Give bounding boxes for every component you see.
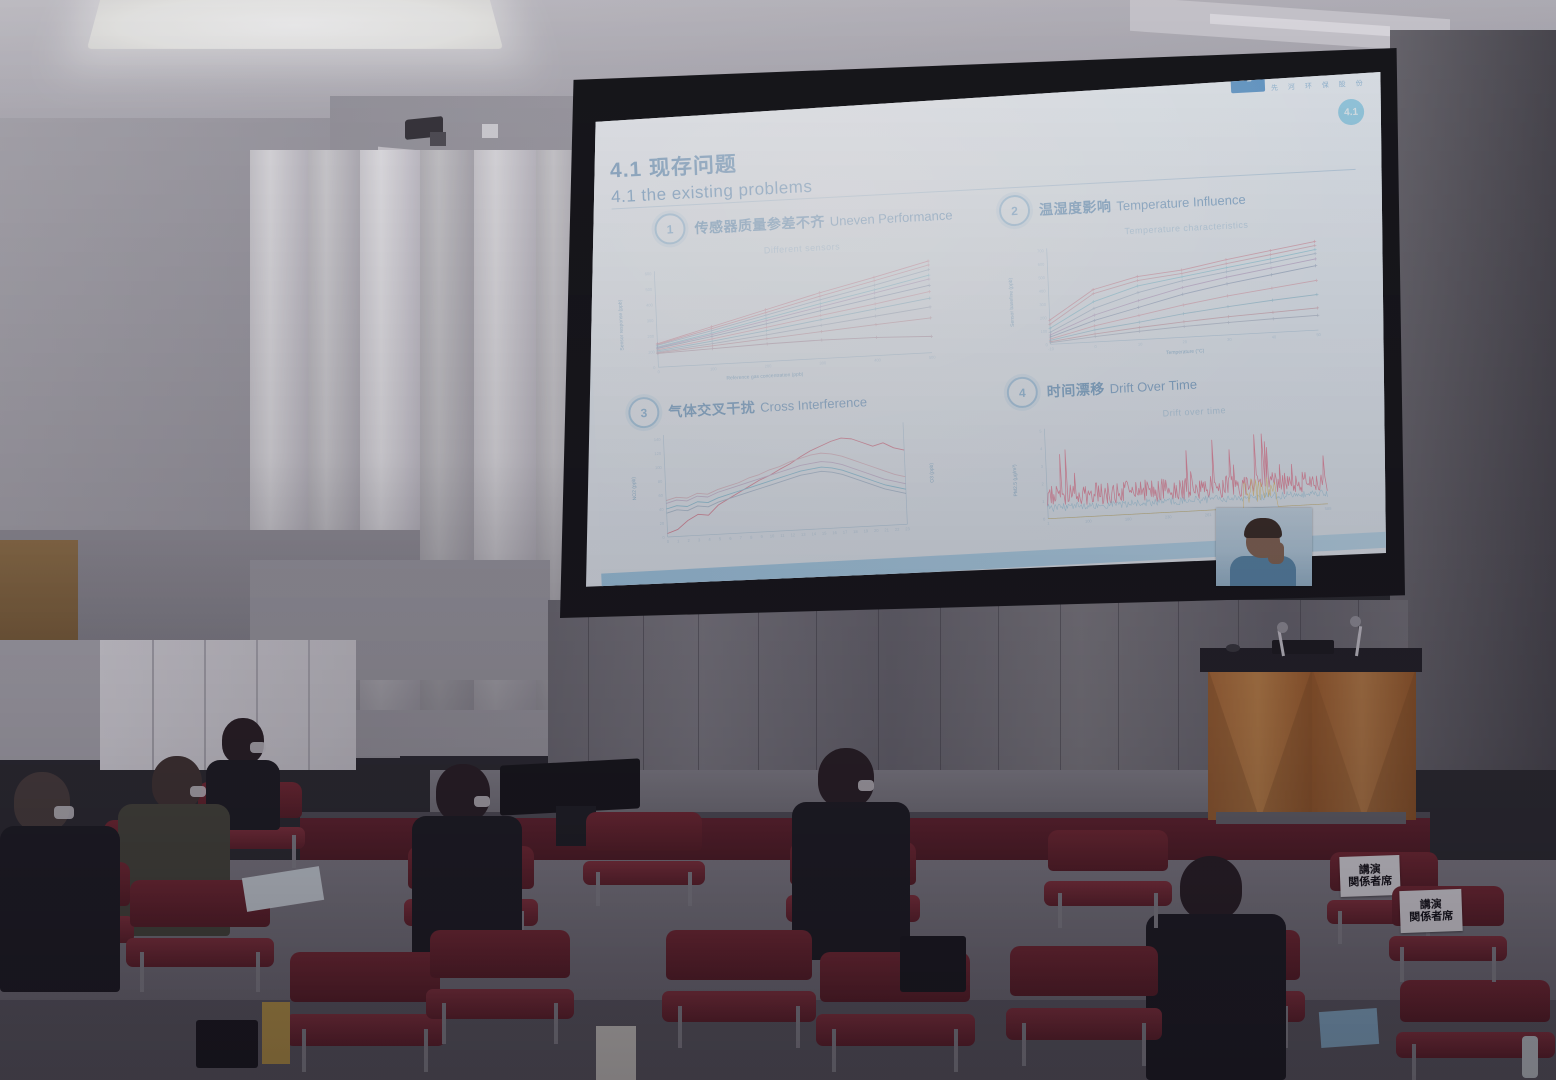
svg-text:1: 1 (677, 538, 680, 543)
svg-text:140: 140 (654, 437, 662, 442)
slide-number-badge: 4.1 (1338, 98, 1365, 125)
panel-drift-over-time: 4 时间漂移Drift Over Time Drift over time (1000, 352, 1386, 548)
svg-text:1: 1 (1047, 521, 1050, 526)
chair[interactable] (1010, 946, 1158, 1066)
svg-text:0: 0 (1094, 344, 1097, 349)
svg-text:7: 7 (740, 535, 743, 540)
svg-text:2: 2 (1041, 481, 1044, 486)
svg-text:0: 0 (1043, 516, 1046, 521)
water-bottle (1522, 1036, 1538, 1078)
panel-number-badge: 3 (628, 396, 660, 429)
svg-text:8: 8 (750, 534, 753, 539)
svg-text:O3 (ppb): O3 (ppb) (929, 462, 936, 482)
svg-text:40: 40 (1272, 334, 1277, 339)
panel-4-title-en: Drift Over Time (1109, 376, 1197, 396)
svg-text:0: 0 (653, 365, 656, 370)
chair[interactable] (430, 930, 570, 1044)
chart-drift-over-time: 1100180230261414541588012345 PM2.5 (µg/m… (1002, 409, 1386, 541)
reserved-sign-line1: 講演 (1359, 863, 1381, 876)
svg-text:600: 600 (1038, 262, 1046, 267)
svg-text:700: 700 (1037, 248, 1045, 253)
svg-text:200: 200 (647, 334, 655, 339)
svg-text:1: 1 (1042, 499, 1045, 504)
svg-text:400: 400 (1039, 288, 1047, 293)
pip-speaker-body (1230, 556, 1296, 586)
svg-text:13: 13 (801, 532, 806, 537)
reserved-sign-line2: 関係者席 (1348, 875, 1392, 889)
chair[interactable] (666, 930, 812, 1048)
svg-text:500: 500 (929, 354, 937, 359)
svg-text:0: 0 (667, 539, 670, 544)
svg-text:PM2.5 (µg/m³): PM2.5 (µg/m³) (1012, 464, 1019, 497)
svg-text:80: 80 (658, 479, 663, 484)
panel-number-badge: 1 (654, 213, 686, 246)
chart-uneven-performance: 01002003004005000100200300400500600 Refe… (610, 245, 1000, 390)
svg-text:120: 120 (654, 451, 662, 456)
podium-microphone-left[interactable] (1276, 620, 1290, 654)
svg-text:21: 21 (884, 527, 889, 532)
reserved-seat-sign: 講演 関係者席 (1399, 889, 1462, 933)
svg-text:20: 20 (1182, 339, 1187, 344)
svg-text:600: 600 (645, 271, 653, 276)
chair[interactable] (586, 812, 702, 906)
svg-text:14: 14 (811, 531, 816, 536)
ceiling-skylight (87, 0, 503, 49)
reserved-sign-line1: 講演 (1420, 898, 1442, 911)
svg-text:230: 230 (1165, 514, 1173, 519)
panel-uneven-performance: 1 传感器质量参差不齐Uneven Performance Different … (608, 196, 1000, 392)
handout-folder (1319, 1008, 1379, 1048)
svg-text:200: 200 (1040, 315, 1048, 320)
svg-text:3: 3 (1041, 464, 1044, 469)
svg-text:100: 100 (1085, 518, 1093, 523)
paper-bag (596, 1026, 636, 1080)
svg-text:200: 200 (765, 363, 773, 368)
svg-text:-10: -10 (1048, 346, 1055, 351)
svg-text:9: 9 (760, 534, 763, 539)
svg-text:5: 5 (1039, 429, 1042, 434)
svg-text:100: 100 (1040, 329, 1048, 334)
panel-temperature-influence: 2 温湿度影响Temperature Influence Temperature… (992, 176, 1384, 372)
svg-text:Reference gas concentration (p: Reference gas concentration (ppb) (726, 372, 803, 382)
paper-bag (262, 1002, 290, 1064)
svg-text:20: 20 (660, 521, 665, 526)
svg-text:10: 10 (1138, 341, 1143, 346)
svg-text:100: 100 (655, 465, 663, 470)
podium (1208, 668, 1416, 820)
svg-text:588: 588 (1325, 506, 1333, 511)
panel-number-badge: 4 (1006, 376, 1038, 409)
audience-person (0, 772, 120, 992)
svg-text:3: 3 (698, 537, 701, 542)
pip-speaker-hair (1244, 518, 1282, 538)
svg-text:300: 300 (819, 360, 827, 365)
svg-text:18: 18 (853, 529, 858, 534)
panel-1-title-en: Uneven Performance (830, 207, 953, 229)
svg-text:30: 30 (1227, 337, 1232, 342)
chair[interactable] (1048, 830, 1168, 928)
panel-1-title-cn: 传感器质量参差不齐 (694, 213, 825, 236)
svg-text:400: 400 (874, 357, 882, 362)
svg-text:11: 11 (780, 533, 785, 538)
svg-text:15: 15 (822, 530, 827, 535)
panel-2-title-cn: 温湿度影响 (1039, 197, 1112, 217)
podium-control-puck[interactable] (1226, 644, 1240, 652)
svg-text:4: 4 (708, 537, 711, 542)
svg-text:NO2 (ppb): NO2 (ppb) (631, 477, 638, 501)
svg-text:6: 6 (729, 536, 732, 541)
svg-text:100: 100 (710, 366, 718, 371)
chair[interactable] (290, 952, 440, 1072)
svg-text:19: 19 (864, 528, 869, 533)
svg-text:0: 0 (662, 535, 665, 540)
svg-text:Sensor baseline (ppb): Sensor baseline (ppb) (1008, 277, 1016, 327)
briefcase (900, 936, 966, 992)
svg-text:0: 0 (657, 369, 660, 374)
projector-mount (430, 132, 446, 146)
panel-2-title-en: Temperature Influence (1116, 191, 1246, 213)
briefcase (196, 1020, 258, 1068)
svg-text:20: 20 (874, 528, 879, 533)
svg-text:17: 17 (843, 529, 848, 534)
slide-title: 4.1 现存问题 4.1 the existing problems (609, 144, 812, 208)
podium-base (1216, 812, 1406, 824)
svg-text:40: 40 (659, 507, 664, 512)
svg-text:12: 12 (791, 532, 796, 537)
svg-text:4: 4 (1040, 446, 1043, 451)
svg-text:22: 22 (895, 527, 900, 532)
svg-text:261: 261 (1205, 512, 1213, 517)
svg-text:180: 180 (1125, 516, 1133, 521)
chart-cross-interference: 0123456789101112131415161718192021222302… (617, 413, 1007, 561)
svg-text:Sensor response (ppb): Sensor response (ppb) (618, 299, 626, 350)
svg-text:400: 400 (646, 302, 654, 307)
ceiling-speaker (482, 124, 498, 138)
svg-text:300: 300 (1039, 302, 1047, 307)
panel-3-title-en: Cross Interference (760, 394, 867, 415)
podium-microphone-right[interactable] (1348, 614, 1364, 654)
chart-temperature-influence: -10010203040500100200300400500600700 Tem… (995, 225, 1385, 370)
pip-speaker-video[interactable] (1216, 508, 1312, 586)
pip-speaker-hand (1268, 542, 1284, 564)
svg-text:2: 2 (688, 538, 691, 543)
svg-text:50: 50 (1316, 332, 1321, 337)
panel-3-title-cn: 气体交叉干扰 (668, 399, 756, 420)
svg-text:500: 500 (645, 287, 653, 292)
svg-text:Temperature (°C): Temperature (°C) (1166, 348, 1205, 356)
panel-4-title-cn: 时间漂移 (1046, 380, 1105, 399)
panel-number-badge: 2 (998, 194, 1030, 227)
reserved-sign-line2: 関係者席 (1409, 910, 1453, 924)
svg-text:60: 60 (658, 493, 663, 498)
auditorium-scene: 先河环保 先 河 环 保 股 份 4.1 4.1 现存问题 4.1 the ex… (0, 0, 1556, 1080)
svg-text:100: 100 (648, 349, 656, 354)
svg-text:300: 300 (647, 318, 655, 323)
svg-text:10: 10 (770, 533, 775, 538)
svg-text:500: 500 (1038, 275, 1046, 280)
audience-person (792, 748, 910, 960)
svg-text:16: 16 (832, 530, 837, 535)
svg-text:23: 23 (905, 526, 910, 531)
svg-text:5: 5 (719, 536, 722, 541)
panel-cross-interference: 3 气体交叉干扰Cross Interference (615, 372, 1007, 568)
